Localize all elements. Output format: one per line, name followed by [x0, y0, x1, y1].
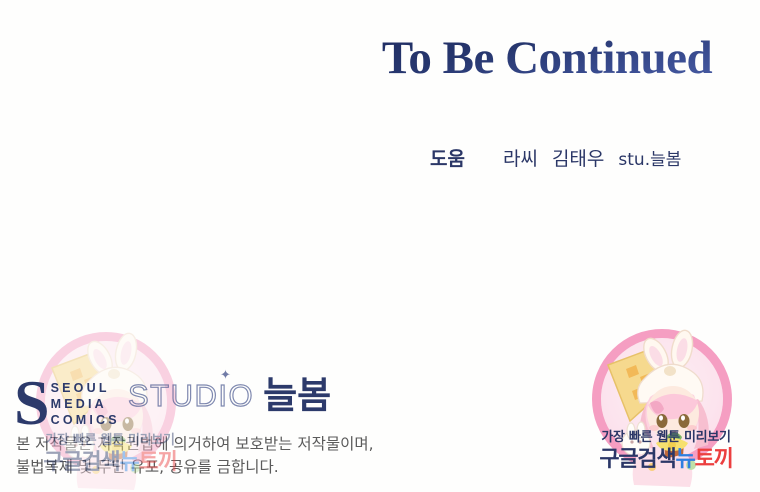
- credits-name-1: 김태우: [552, 144, 604, 171]
- seoul-media-comics-logo: S SEOUL MEDIA COMICS: [14, 372, 120, 434]
- watermark-brand-t: 토끼: [695, 447, 733, 472]
- watermark-right: 가장 빠른 웹툰 미리보기 구글검색뉴토끼: [578, 325, 754, 490]
- credits-line: 도움 라씨 김태우 stu.늘봄: [430, 144, 681, 172]
- page-title: To Be Continued: [347, 30, 747, 86]
- studio-name: 늘봄: [263, 376, 331, 416]
- watermark-disc: [601, 338, 723, 460]
- credits-role-label: 도움: [430, 144, 465, 171]
- watermark-search-text: 구글검색: [599, 447, 675, 472]
- watermark-ring: [592, 329, 732, 469]
- studio-word: STUDIO: [128, 379, 254, 413]
- copyright-notice: 본 저작물은 저작권법에 의거하여 보호받는 저작물이며, 불법복제 및 무단 …: [16, 433, 486, 479]
- studio-lockup: STUDIO ✦ 늘봄: [128, 376, 331, 416]
- sparkle-icon: ✦: [220, 367, 231, 383]
- bunny-girl-illustration: [578, 325, 754, 490]
- logo-word-comics: COMICS: [51, 412, 120, 428]
- copyright-line-1: 본 저작물은 저작권법에 의거하여 보호받는 저작물이며,: [16, 433, 486, 456]
- watermark-brand-n: 뉴: [676, 447, 695, 472]
- logo-monogram-s: S: [14, 374, 50, 432]
- logo-wordmark: SEOUL MEDIA COMICS: [51, 378, 120, 428]
- watermark-caption-bottom: 구글검색뉴토끼: [578, 447, 754, 473]
- watermark-caption-top: 가장 빠른 웹툰 미리보기: [578, 429, 754, 446]
- watermark-caption: 가장 빠른 웹툰 미리보기 구글검색뉴토끼: [578, 429, 754, 473]
- logo-word-media: MEDIA: [51, 396, 120, 412]
- comic-page: To Be Continued 도움 라씨 김태우 stu.늘봄 S SEOUL…: [0, 0, 760, 492]
- logo-word-seoul: SEOUL: [51, 380, 120, 396]
- copyright-line-2: 불법복제 및 무단 유포, 공유를 금합니다.: [16, 456, 486, 479]
- credits-name-0: 라씨: [503, 144, 538, 171]
- credits-studio: stu.늘봄: [618, 145, 681, 170]
